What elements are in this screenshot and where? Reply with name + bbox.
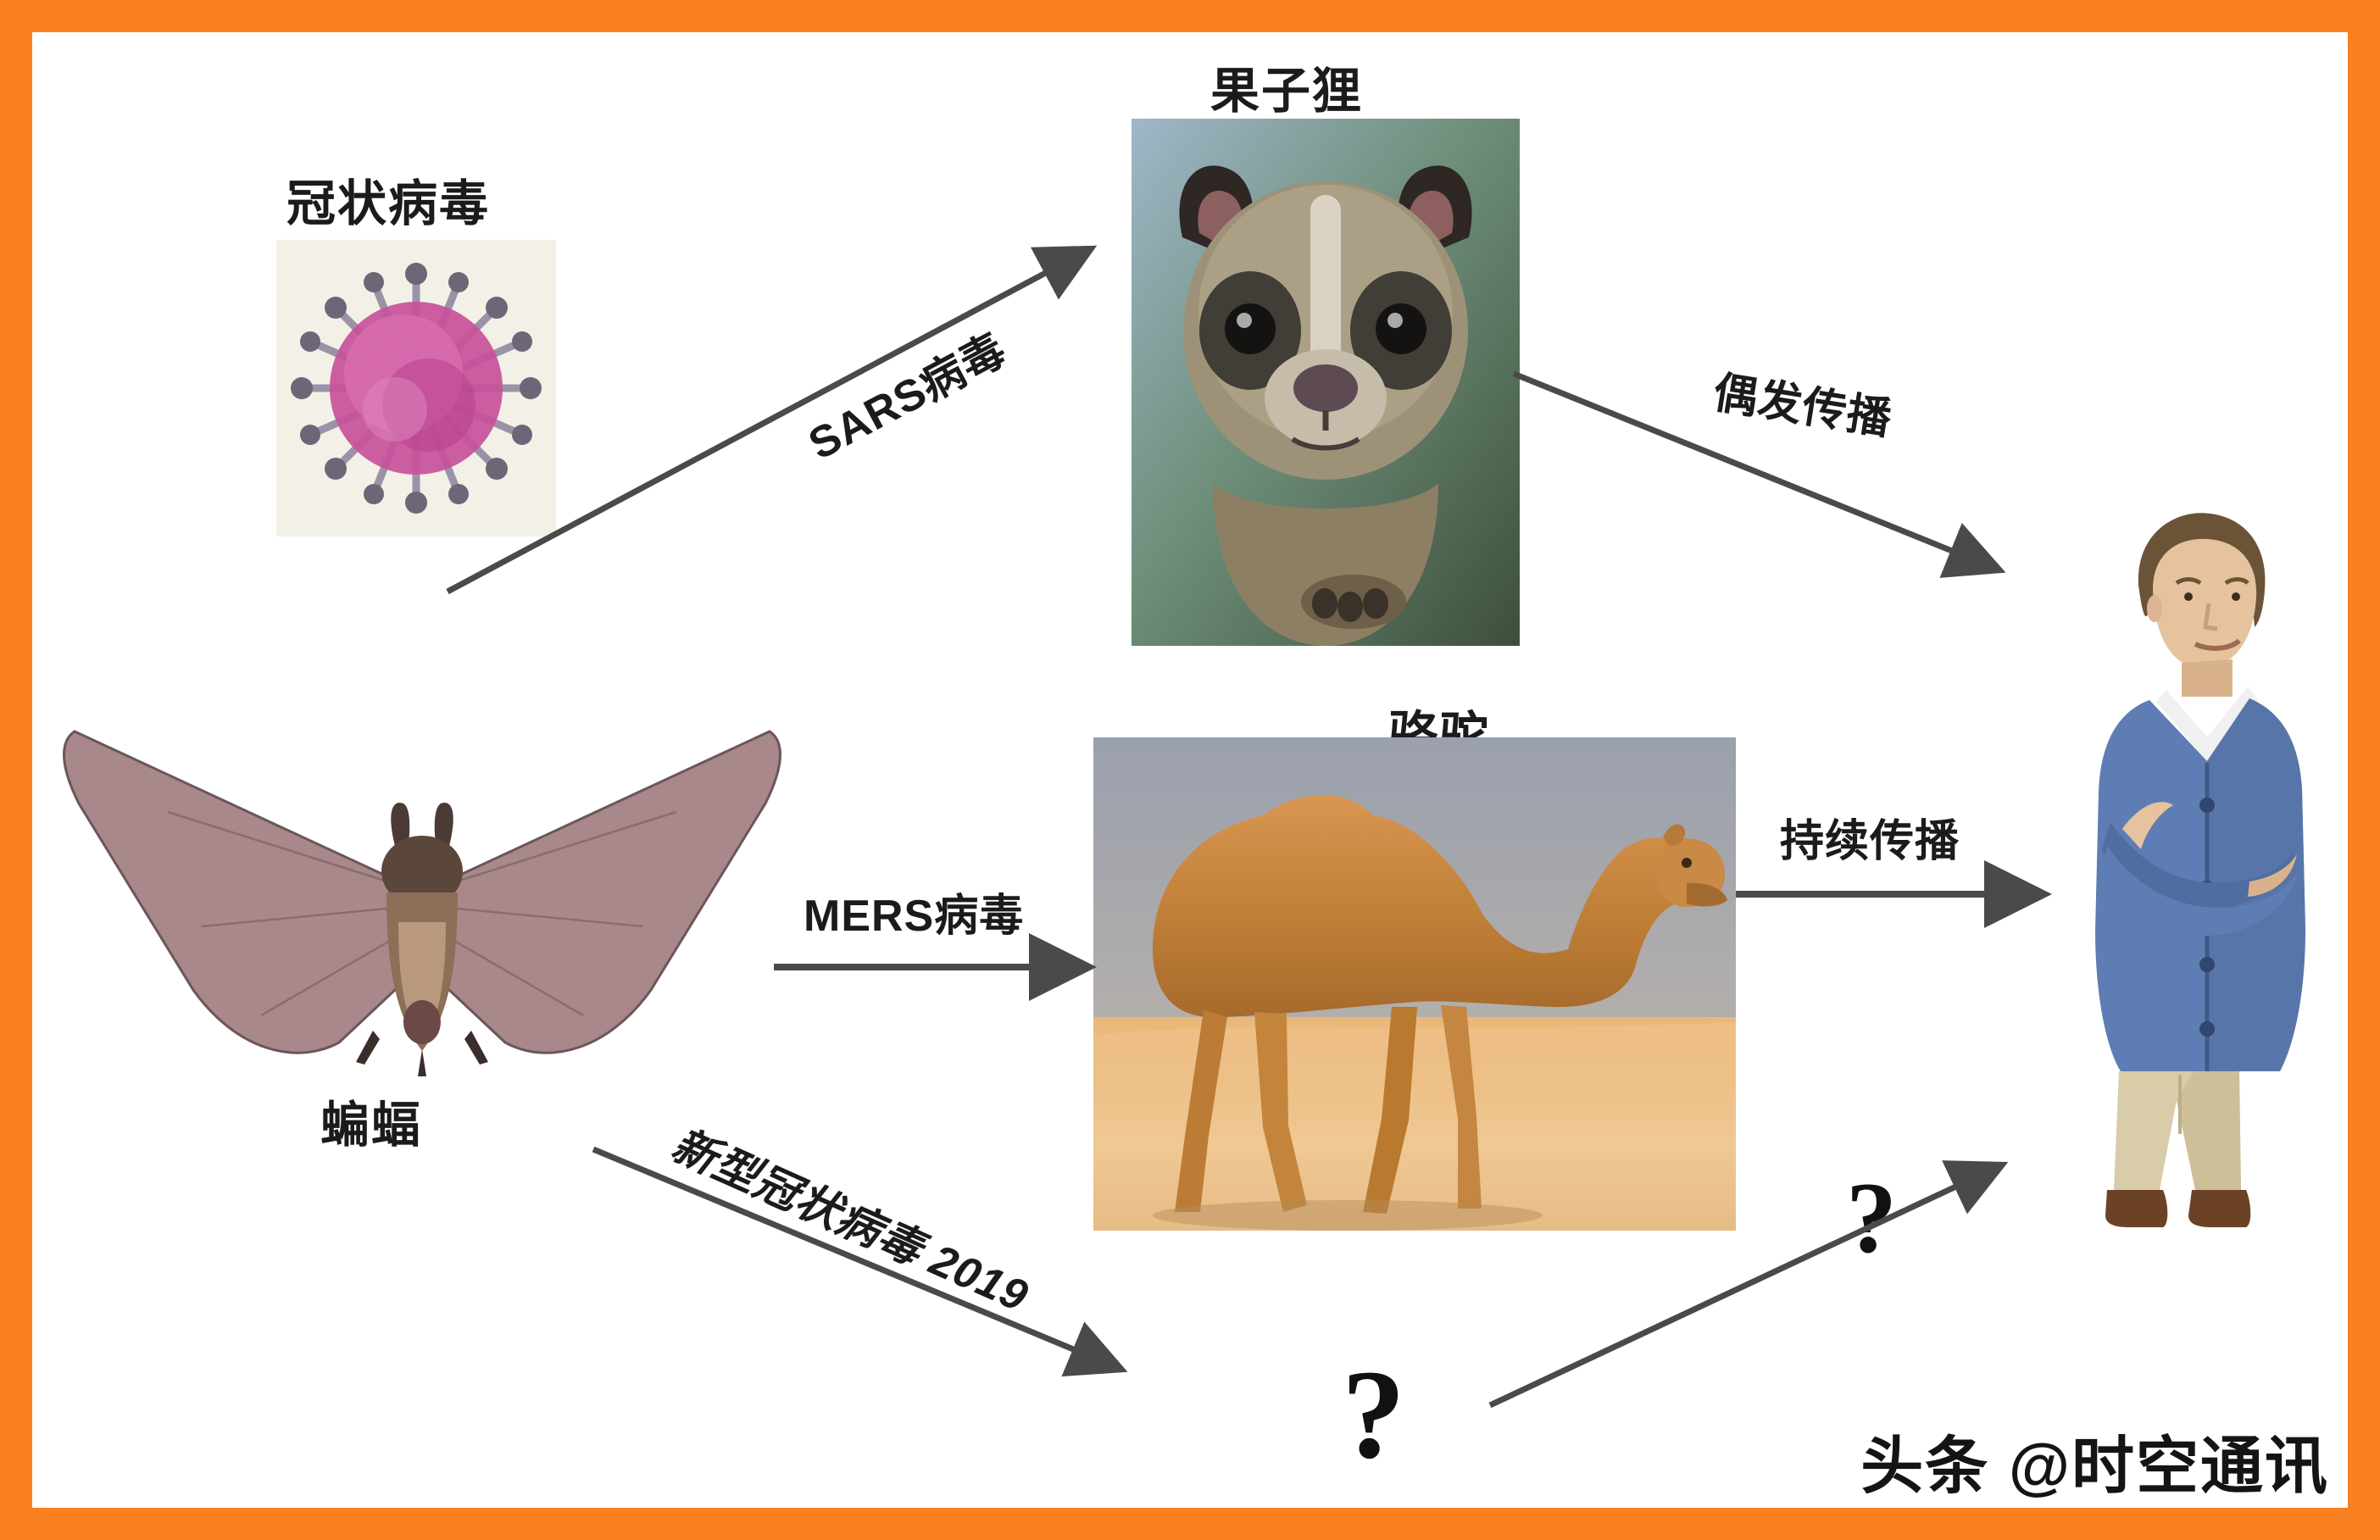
camel-icon	[1093, 737, 1736, 1231]
edge-label-novel-coronavirus-2019: 新型冠状病毒 2019	[664, 1109, 1040, 1324]
diagram-page: 冠状病毒	[0, 0, 2380, 1540]
question-mark-lower: ?	[1342, 1342, 1405, 1487]
watermark: 头条 @时空通讯	[1860, 1415, 2329, 1506]
civet-icon	[1132, 119, 1520, 646]
coronavirus-particle-icon	[276, 240, 556, 536]
edge-label-mers: MERS病毒	[804, 880, 1024, 943]
civet-caption: 果子狸	[1210, 51, 1363, 122]
edge-label-sporadic: 偶发传播	[1710, 356, 1897, 447]
question-mark-upper: ?	[1846, 1159, 1897, 1276]
edge-label-sars: SARS病毒	[795, 314, 1015, 472]
bat-caption: 蝙蝠	[320, 1085, 422, 1156]
arrow-bat-to-unknown	[593, 1149, 1122, 1370]
edge-label-sustained: 持续传播	[1780, 805, 1960, 869]
bat-icon	[41, 710, 804, 1083]
diagram-canvas: 冠状病毒	[32, 32, 2348, 1508]
person-icon	[2058, 490, 2338, 1236]
virus-caption: 冠状病毒	[286, 164, 490, 235]
